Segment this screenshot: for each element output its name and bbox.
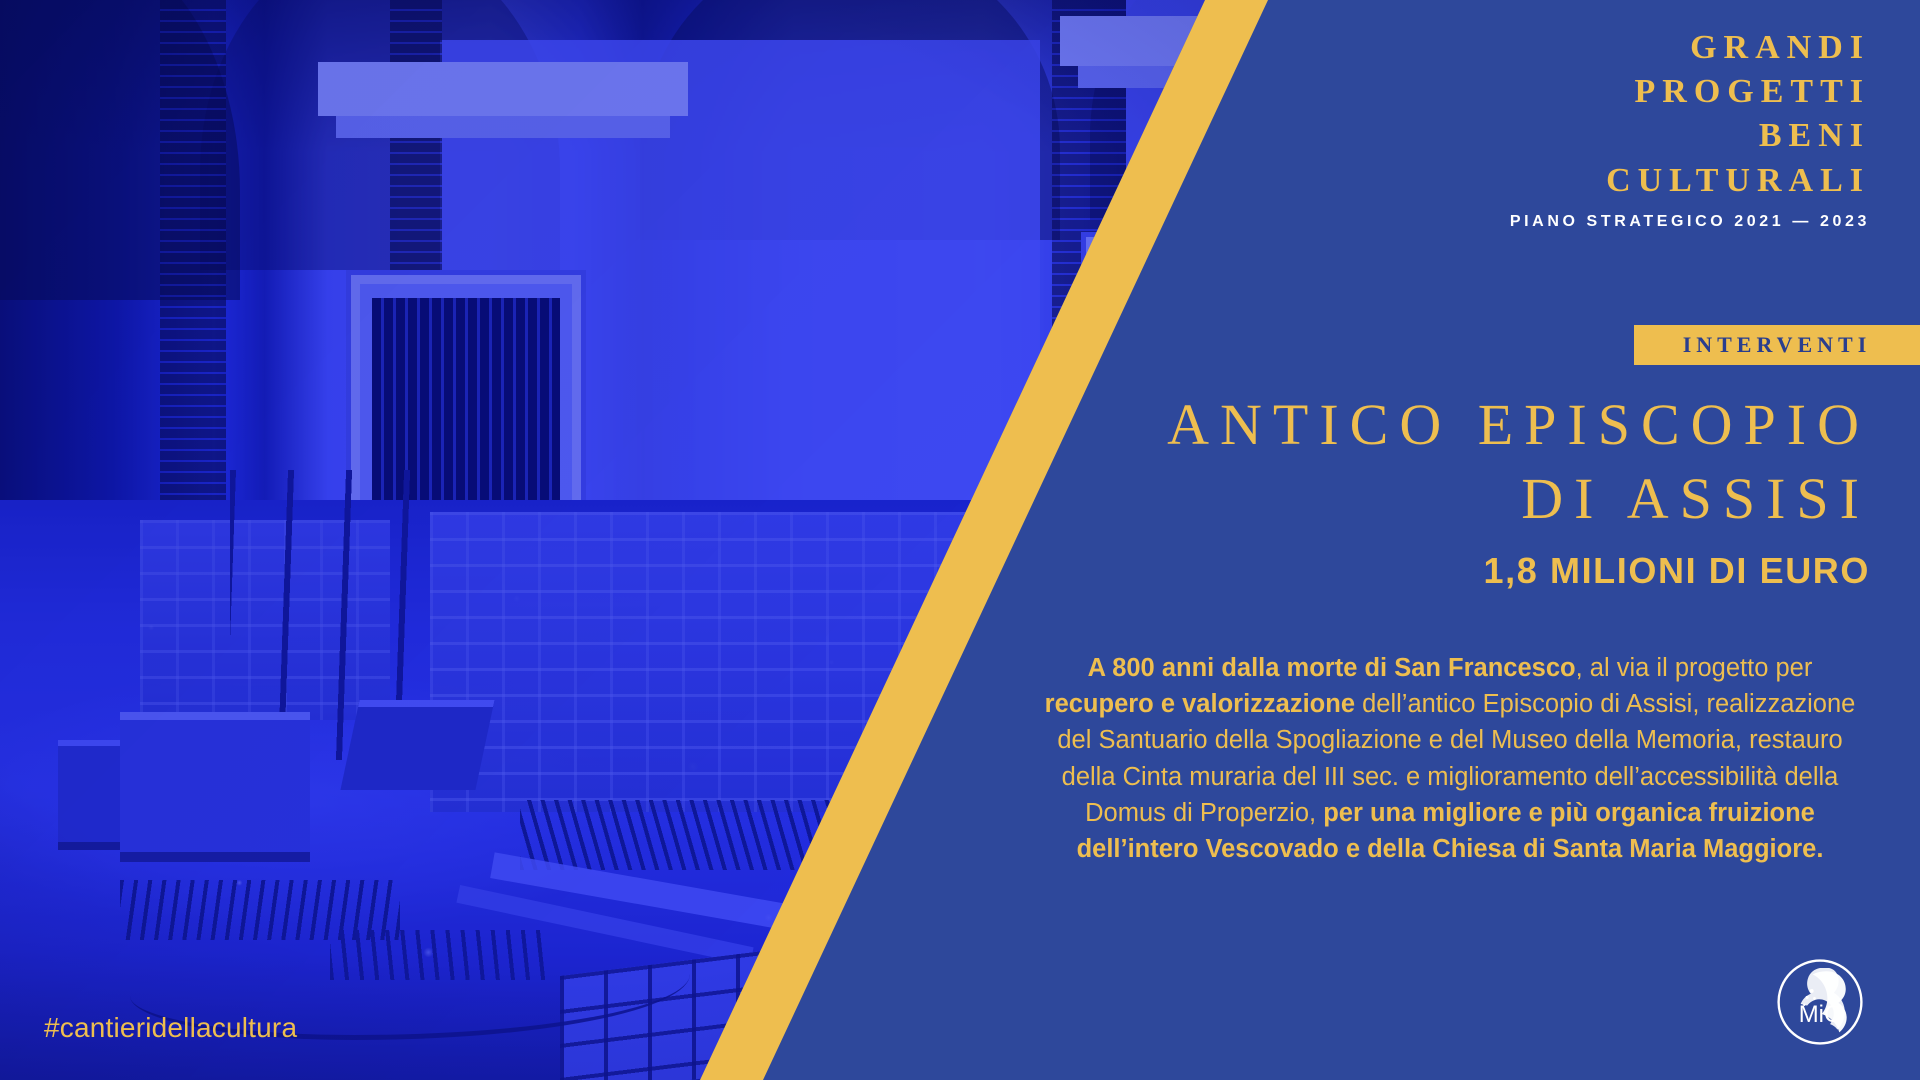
page-title-line-2: DI ASSISI xyxy=(970,462,1870,536)
programme-branding: GRANDI PROGETTI BENI CULTURALI PIANO STR… xyxy=(1510,26,1870,231)
description-plain-1: , al via il progetto per xyxy=(1576,654,1813,682)
brand-line-3: BENI xyxy=(1510,114,1870,158)
page-title-line-1: ANTICO EPISCOPIO xyxy=(970,388,1870,462)
project-photo xyxy=(0,0,1260,1080)
brand-line-1: GRANDI xyxy=(1510,26,1870,70)
strategic-plan-line: PIANO STRATEGICO 2021 — 2023 xyxy=(1510,213,1870,231)
mic-logo-text: MiC xyxy=(1799,1001,1842,1028)
page-title: ANTICO EPISCOPIO DI ASSISI xyxy=(970,388,1870,536)
funding-amount: 1,8 MILIONI DI EURO xyxy=(970,550,1870,592)
interventi-badge-label: INTERVENTI xyxy=(1683,332,1872,358)
campaign-hashtag: #cantieridellacultura xyxy=(44,1012,297,1044)
description-bold-1: A 800 anni dalla morte di San Francesco xyxy=(1088,654,1576,682)
vignette-overlay xyxy=(0,0,1260,1080)
brand-line-4: CULTURALI xyxy=(1510,159,1870,203)
interventi-badge: INTERVENTI xyxy=(1634,325,1920,365)
brand-line-2: PROGETTI xyxy=(1510,70,1870,114)
window-base-panel xyxy=(1086,952,1260,972)
description-bold-2: recupero e valorizzazione xyxy=(1045,690,1355,718)
poster-canvas: GRANDI PROGETTI BENI CULTURALI PIANO STR… xyxy=(0,0,1920,1080)
mic-logo-icon: MiC xyxy=(1774,956,1866,1048)
project-description: A 800 anni dalla morte di San Francesco,… xyxy=(1030,650,1870,867)
